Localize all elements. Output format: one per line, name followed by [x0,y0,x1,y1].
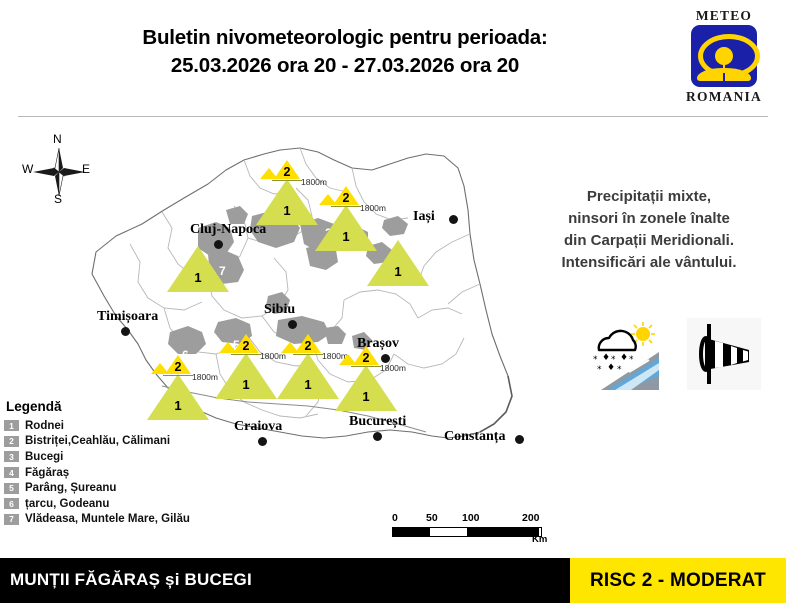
marker-peak-triangle-secondary [281,342,299,353]
forecast-line-2: ninsori în zonele înalte [520,208,778,230]
marker-altitude-divider [331,206,361,207]
marker-peak-triangle-secondary [260,168,278,179]
legend-label-4: Făgăraș [25,467,69,479]
marker-base-level: 1 [356,389,376,404]
risk-level-text: RISC 2 - MODERAT [590,570,766,592]
weather-icons: *♦* ♦* *♦* [585,318,765,390]
risk-marker: 211800m [277,334,339,399]
marker-base-level: 1 [277,203,297,218]
marker-peak-triangle-secondary [151,363,169,374]
legend-label-6: țarcu, Godeanu [25,498,109,510]
legend-label-3: Bucegi [25,451,63,463]
logo-text-top: METEO [676,8,772,23]
city-name: Cluj-Napoca [190,222,266,238]
marker-altitude-divider [272,180,302,181]
marker-altitude-divider [293,354,323,355]
scale-bar-graphic [392,527,542,537]
bulletin-page: Buletin nivometeorologic pentru perioada… [0,0,786,603]
legend-item-2: 2Bistriței,Ceahlău, Călimani [4,434,254,450]
city-dot [288,320,297,329]
forecast-line-1: Precipitații mixte, [520,186,778,208]
meteo-romania-logo: METEO ROMANIA [676,8,772,108]
marker-base-triangle [167,246,229,292]
page-title: Buletin nivometeorologic pentru perioada… [50,24,640,80]
marker-base-level: 1 [236,377,256,392]
marker-peak-level: 2 [279,165,295,179]
marker-altitude-divider [163,375,193,376]
legend-item-4: 4Făgăraș [4,465,254,481]
scale-bar: 0 50 100 200 Km [392,512,552,544]
marker-altitude-label: 1800m [380,363,406,373]
compass-label-east: E [82,162,90,176]
marker-peak-triangle-secondary [319,194,337,205]
city-dot [381,354,390,363]
legend-swatch-2: 2 [4,436,19,447]
city-name: Brașov [357,336,399,352]
legend-swatch-3: 3 [4,451,19,462]
risk-marker: 1 [167,242,229,307]
city-dot [449,215,458,224]
legend-title: Legendă [6,399,254,414]
marker-peak-level: 2 [238,339,254,353]
svg-text:*: * [593,355,598,365]
city-name: București [349,414,406,430]
compass-rose: N E S W [20,134,98,210]
marker-altitude-divider [351,366,381,367]
svg-text:♦: ♦ [602,353,610,363]
marker-base-level: 1 [298,377,318,392]
legend-rows: 1Rodnei2Bistriței,Ceahlău, Călimani3Buce… [4,418,254,527]
city-dot [515,435,524,444]
forecast-line-4: Intensificări ale vântului. [520,252,778,274]
marker-base-level: 1 [188,270,208,285]
svg-text:♦: ♦ [620,353,628,363]
wind-windsock-icon [687,318,761,390]
risk-level-badge: RISC 2 - MODERAT [570,558,786,603]
svg-text:♦: ♦ [607,363,615,373]
legend: Legendă 1Rodnei2Bistriței,Ceahlău, Călim… [4,399,254,527]
marker-peak-triangle-secondary [339,354,357,365]
risk-marker: 211800m [256,160,318,225]
marker-peak-level: 2 [358,351,374,365]
forecast-text-panel: Precipitații mixte, ninsori în zonele în… [520,186,778,274]
legend-swatch-6: 6 [4,498,19,509]
city-dot [121,327,130,336]
scale-tick-50: 50 [426,512,438,524]
marker-peak-level: 2 [338,191,354,205]
marker-peak-triangle-secondary [219,342,237,353]
svg-text:*: * [597,365,602,375]
city-name: Constanța [444,429,505,445]
legend-swatch-7: 7 [4,514,19,525]
scale-tick-200: 200 [522,512,540,524]
legend-swatch-1: 1 [4,420,19,431]
mixed-precipitation-icon: *♦* ♦* *♦* [585,318,659,390]
scale-tick-0: 0 [392,512,398,524]
header: Buletin nivometeorologic pentru perioada… [0,0,786,118]
bottom-bar: MUNȚII FĂGĂRAȘ și BUCEGI RISC 2 - MODERA… [0,558,786,603]
legend-item-7: 7Vlădeasa, Muntele Mare, Gilău [4,512,254,528]
scale-seg-3 [467,528,539,536]
city-dot [373,432,382,441]
scale-seg-1 [393,528,430,536]
city-dot [214,240,223,249]
title-line-2: 25.03.2026 ora 20 - 27.03.2026 ora 20 [50,52,640,80]
legend-swatch-5: 5 [4,483,19,494]
marker-base-level: 1 [336,229,356,244]
forecast-line-3: din Carpații Meridionali. [520,230,778,252]
compass-label-west: W [22,162,33,176]
city-name: Sibiu [264,302,295,318]
marker-altitude-divider [231,354,261,355]
svg-text:*: * [617,365,622,375]
scale-tick-100: 100 [462,512,480,524]
legend-label-7: Vlădeasa, Muntele Mare, Gilău [25,513,190,525]
marker-base-level: 1 [388,264,408,279]
marker-base-triangle [367,240,429,286]
logo-mark-icon [691,25,757,87]
legend-label-2: Bistriței,Ceahlău, Călimani [25,435,170,447]
scale-bar-unit: Km [532,534,547,545]
city-name: Iași [413,209,435,225]
scale-seg-2 [430,528,467,536]
logo-stem-shape [723,63,725,73]
logo-text-bottom: ROMANIA [676,89,772,104]
risk-marker: 211800m [215,334,277,399]
legend-item-1: 1Rodnei [4,418,254,434]
legend-item-6: 6țarcu, Godeanu [4,496,254,512]
marker-peak-level: 2 [170,360,186,374]
legend-label-5: Parâng, Șureanu [25,482,116,494]
marker-altitude-label: 1800m [360,203,386,213]
city-dot [258,437,267,446]
compass-label-north: N [53,132,62,146]
mountain-range-label: MUNȚII FĂGĂRAȘ și BUCEGI [10,570,252,590]
svg-text:*: * [629,355,634,365]
legend-swatch-4: 4 [4,467,19,478]
header-divider [18,116,768,117]
legend-item-3: 3Bucegi [4,449,254,465]
marker-peak-level: 2 [300,339,316,353]
legend-item-5: 5Parâng, Șureanu [4,480,254,496]
risk-marker: 1 [367,236,429,301]
title-line-1: Buletin nivometeorologic pentru perioada… [142,26,547,49]
city-name: Timișoara [97,309,158,325]
scale-bar-ticks: 0 50 100 200 [392,512,552,525]
compass-label-south: S [54,192,62,206]
legend-label-1: Rodnei [25,420,64,432]
